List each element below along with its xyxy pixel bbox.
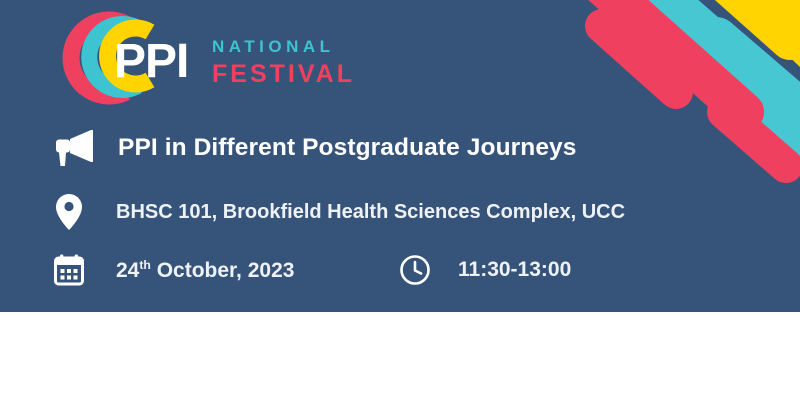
- megaphone-glyph: [52, 128, 98, 168]
- event-date: 24th October, 2023: [116, 258, 294, 283]
- logo-national-text: NATIONAL: [212, 38, 335, 55]
- location-pin-glyph: [55, 193, 83, 231]
- partner-logos-footer: PPI IGNITE NETWORK HRB Health Research B…: [0, 312, 800, 400]
- clock-icon: [398, 252, 432, 288]
- event-poster: PPI NATIONAL FESTIVAL PPI in Different P…: [0, 0, 800, 400]
- calendar-icon: [52, 252, 86, 288]
- logo-festival-text: FESTIVAL: [212, 62, 355, 87]
- event-venue-row: BHSC 101, Brookfield Health Sciences Com…: [52, 192, 625, 232]
- hero-panel: PPI NATIONAL FESTIVAL PPI in Different P…: [0, 0, 800, 312]
- event-venue: BHSC 101, Brookfield Health Sciences Com…: [116, 201, 625, 224]
- megaphone-icon: [52, 128, 98, 168]
- logo-ppi-text: PPI: [114, 38, 188, 86]
- calendar-glyph: [54, 254, 84, 286]
- event-title-row: PPI in Different Postgraduate Journeys: [52, 128, 577, 168]
- event-time: 11:30-13:00: [458, 258, 571, 282]
- event-date-row: 24th October, 2023: [52, 252, 294, 288]
- event-date-rest: October, 2023: [151, 259, 295, 282]
- event-date-day: 24: [116, 259, 139, 282]
- clock-glyph: [399, 254, 431, 286]
- event-date-ordinal: th: [139, 258, 151, 272]
- festival-logo: PPI NATIONAL FESTIVAL: [52, 8, 372, 108]
- event-title: PPI in Different Postgraduate Journeys: [118, 134, 577, 162]
- location-pin-icon: [52, 192, 86, 232]
- event-time-row: 11:30-13:00: [398, 252, 571, 288]
